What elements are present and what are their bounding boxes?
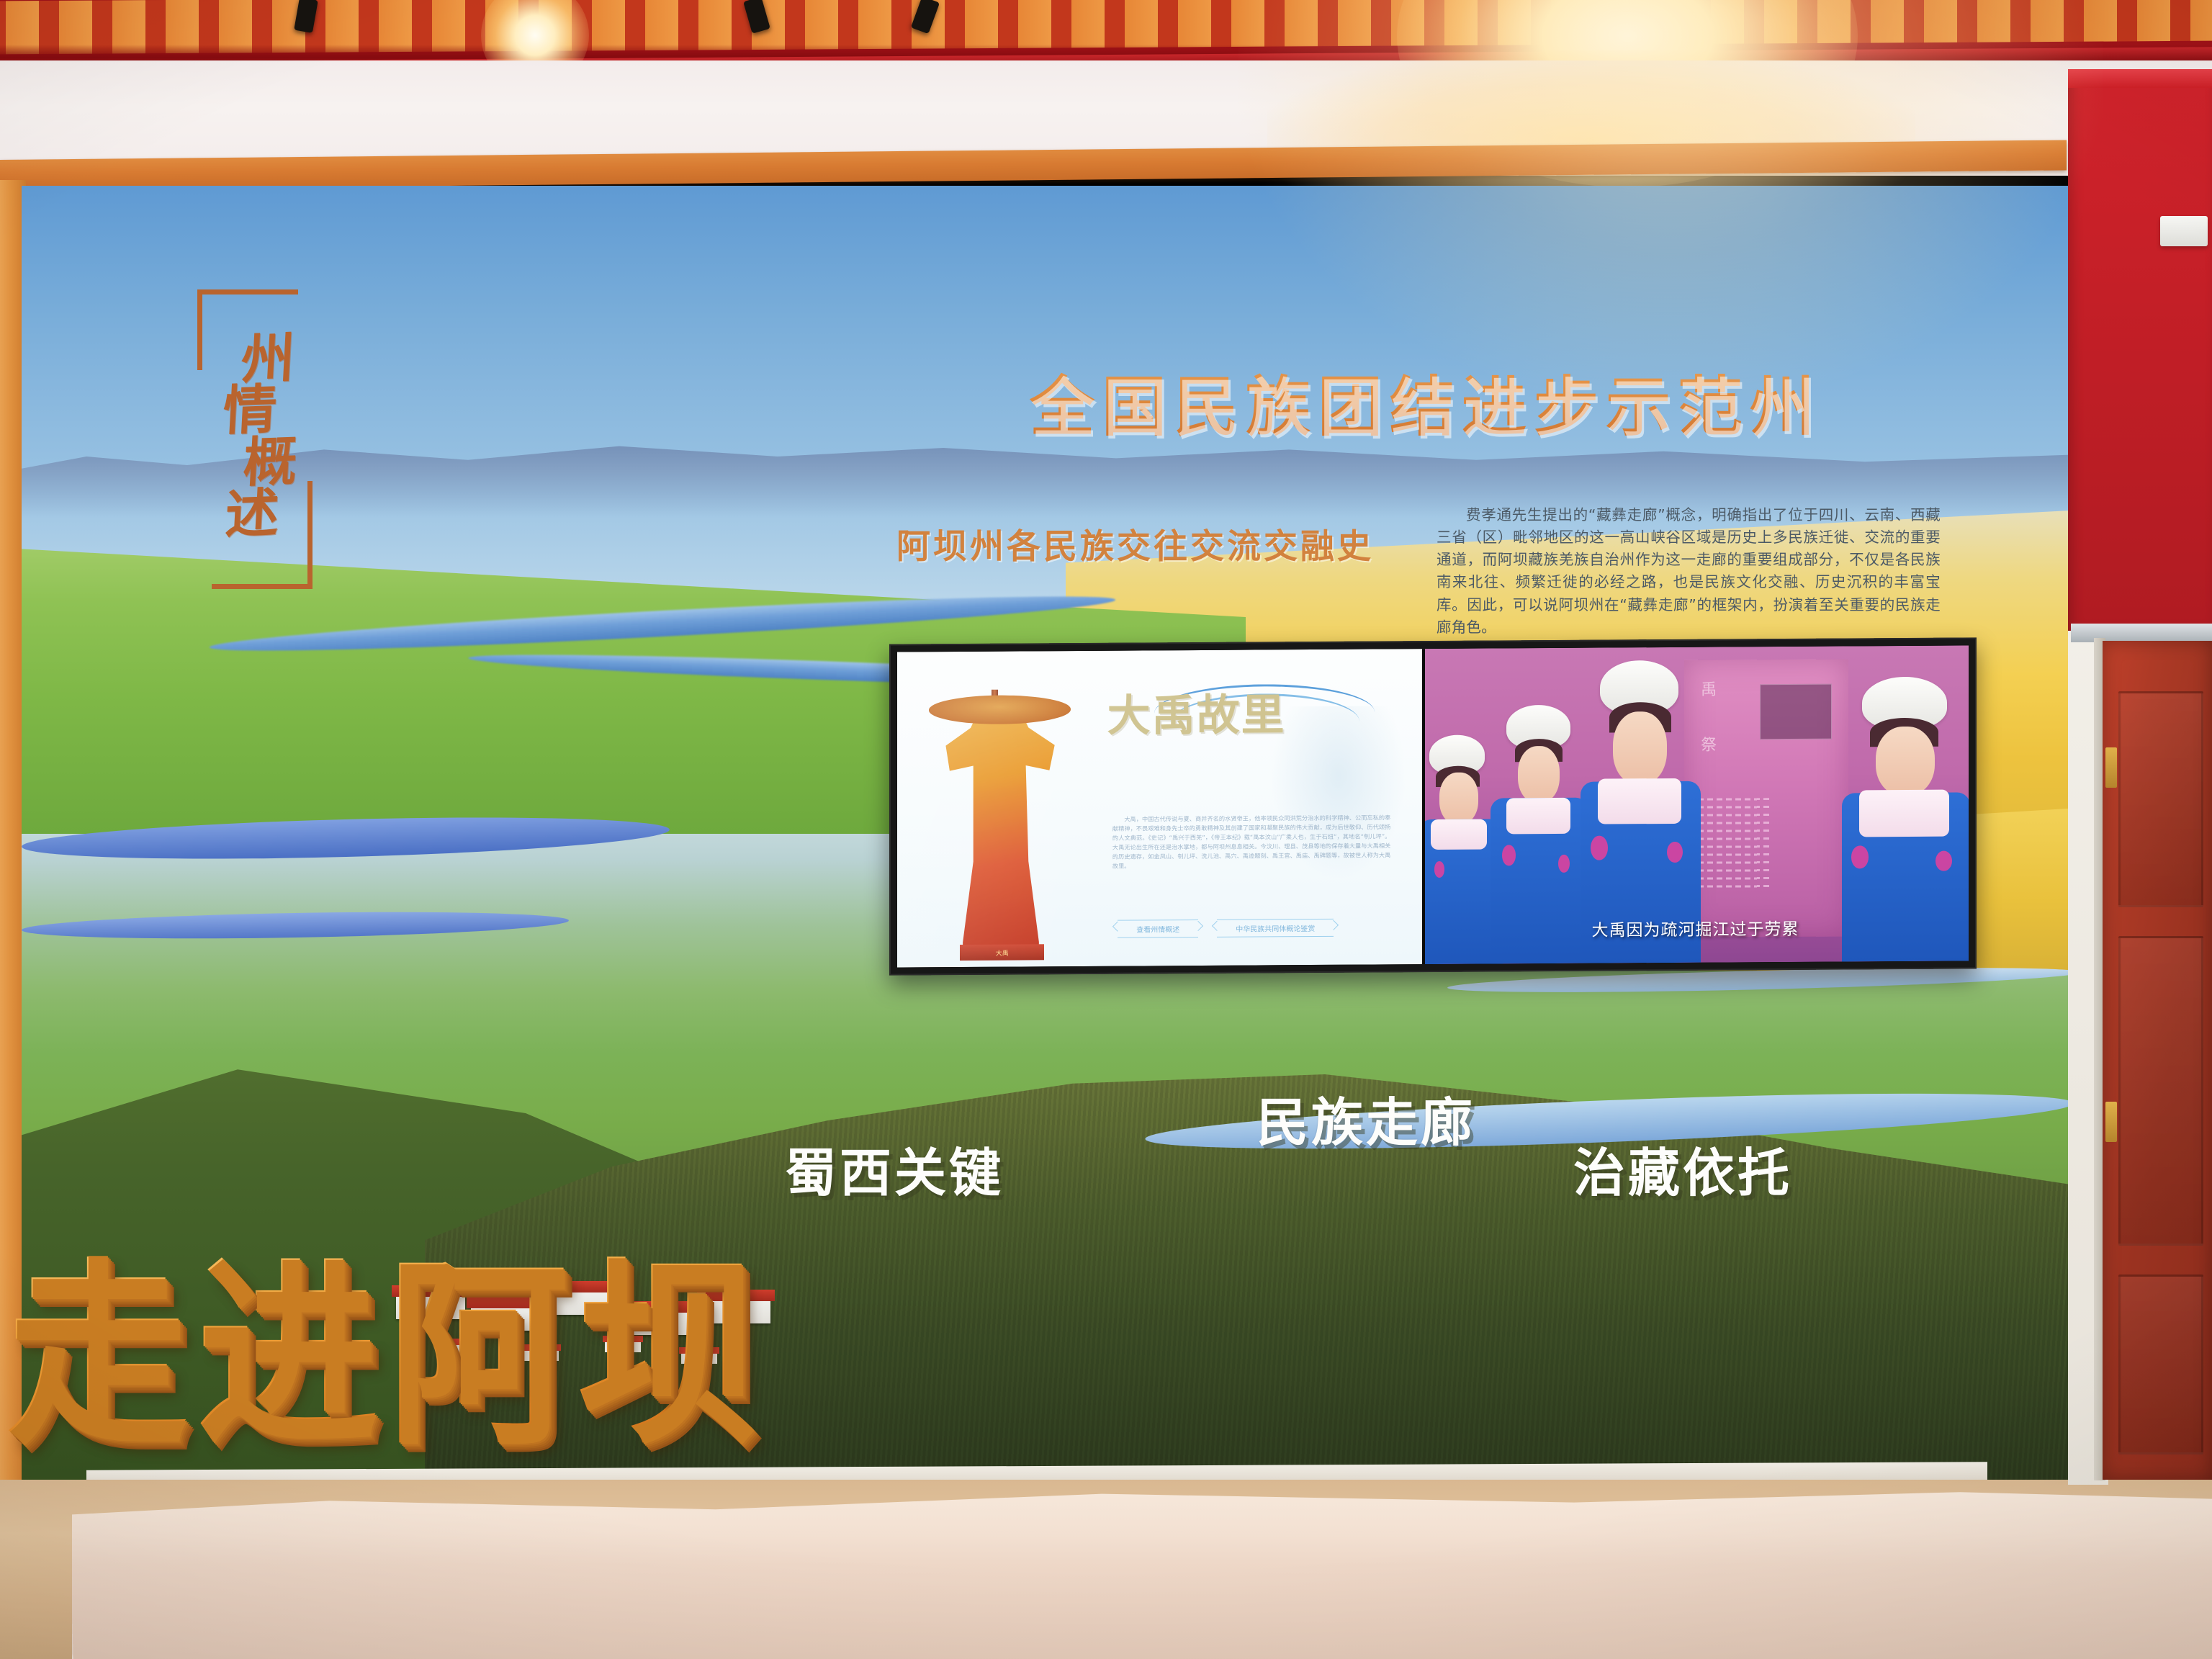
door-header-trim <box>2071 624 2212 642</box>
led-display-screen[interactable]: 大禹 大禹故里 大禹，中国古代传说与夏、商并齐名的水贤帝王，他率领民众同洪荒分治… <box>889 637 1977 975</box>
door-hinge-icon <box>2105 1102 2117 1142</box>
slogan-shuxi-guanjian: 蜀西关键 <box>785 1130 1004 1206</box>
stone-stele: 禹 祭 <box>1684 659 1848 938</box>
river-bend <box>22 908 569 942</box>
face <box>1613 711 1667 784</box>
floral-embroidery <box>1667 842 1683 863</box>
door-panel <box>2118 936 2203 1246</box>
mural-subheading: 阿坝州各民族交往交流交融史 <box>896 518 1374 568</box>
statue-base-plaque: 大禹 <box>960 945 1044 961</box>
face <box>1876 726 1935 796</box>
video-subtitle: 大禹因为疏河掘江过于劳累 <box>1422 914 1969 943</box>
plaque-characters: 州 情 概 述 <box>179 282 331 592</box>
slide-paragraph: 大禹，中国古代传说与夏、商并齐名的水贤帝王，他率领民众同洪荒分治水的科学精神、公… <box>1112 813 1390 871</box>
screen-bezel-divider <box>1422 649 1425 964</box>
view-overview-button[interactable]: 查看州情概述 <box>1118 920 1198 938</box>
plaque-char: 概 <box>242 437 298 489</box>
plaque-char: 情 <box>222 385 278 437</box>
slogan-zhizang-yituo: 治藏依托 <box>1573 1130 1792 1206</box>
mural-headline: 全国民族团结进步示范州 <box>1030 354 1822 448</box>
door-panel <box>2118 691 2203 907</box>
plaque-char: 州 <box>240 334 296 386</box>
floor-plastic-sheeting <box>72 1487 2212 1659</box>
stele-plaque <box>1760 684 1832 740</box>
plaque-char: 述 <box>224 488 280 540</box>
slogan-minzu-zoulang: 民族走廊 <box>1256 1080 1475 1156</box>
mural-body-paragraph: 费孝通先生提出的“藏彝走廊”概念，明确指出了位于四川、云南、西藏三省（区）毗邻地… <box>1437 504 1941 639</box>
gold-3d-title-zoujin-aba: 走进阿坝 <box>7 1256 768 1455</box>
door-panel <box>2118 1274 2203 1455</box>
dayu-statue-figure <box>934 705 1065 958</box>
embroidered-collar <box>1859 790 1949 837</box>
face <box>1518 746 1560 803</box>
embroidered-collar <box>1598 778 1682 824</box>
screen-left-slide[interactable]: 大禹 大禹故里 大禹，中国古代传说与夏、商并齐名的水贤帝王，他率领民众同洪荒分治… <box>897 649 1422 967</box>
right-red-wall-top-trim <box>2068 69 2212 88</box>
wooden-door[interactable] <box>2103 641 2212 1480</box>
screen-content: 大禹 大禹故里 大禹，中国古代传说与夏、商并齐名的水贤帝王，他率领民众同洪荒分治… <box>897 645 1969 967</box>
community-theory-button[interactable]: 中华民族共同体概论鉴赏 <box>1217 918 1334 937</box>
right-red-wall <box>2068 69 2212 631</box>
stele-inscription <box>1698 798 1819 893</box>
screen-right-video[interactable]: 禹 祭 <box>1422 645 1969 964</box>
embroidered-collar <box>1431 819 1487 850</box>
wall-mounted-sign <box>2160 216 2208 246</box>
plastic-folds <box>72 1487 2212 1659</box>
slide-title: 大禹故里 <box>1107 693 1407 739</box>
statue-hat-icon <box>929 695 1071 724</box>
face <box>1439 773 1478 824</box>
floral-embroidery <box>1502 845 1516 866</box>
calligraphy-plaque: 州 情 概 述 <box>179 282 331 592</box>
door-hinge-icon <box>2105 747 2117 788</box>
embroidered-collar <box>1506 798 1570 835</box>
slide-button-group: 查看州情概述 中华民族共同体概论鉴赏 <box>1118 918 1334 938</box>
exhibition-hall-scene: 州 情 概 述 全国民族团结进步示范州 阿坝州各民族交往交流交融史 费孝通先生提… <box>0 0 2212 1659</box>
